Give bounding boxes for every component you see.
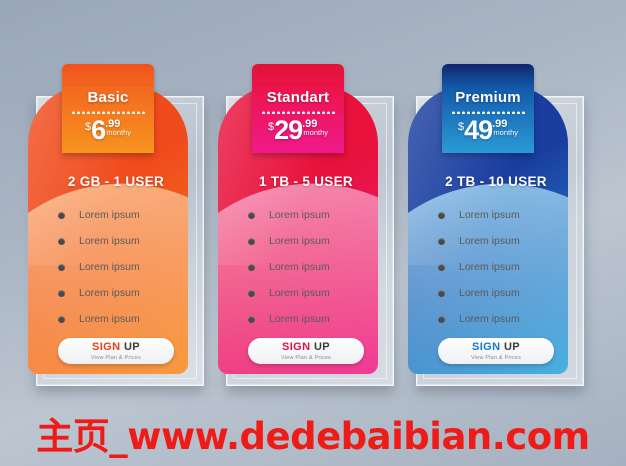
list-item: Lorem ipsum [438, 254, 558, 280]
bullet-icon [248, 290, 255, 297]
list-item: Lorem ipsum [248, 228, 368, 254]
bullet-icon [438, 264, 445, 271]
list-item: Lorem ipsum [438, 202, 558, 228]
sign-up-word-2: UP [124, 341, 140, 353]
ribbon-curl [252, 64, 344, 86]
feature-label: Lorem ipsum [79, 235, 140, 247]
list-item: Lorem ipsum [438, 306, 558, 332]
ribbon-body: Premium $49.99monthy [442, 86, 534, 153]
sign-up-word: SIGN [92, 341, 121, 353]
bullet-icon [248, 212, 255, 219]
feature-list: Lorem ipsum Lorem ipsum Lorem ipsum Lore… [438, 202, 558, 332]
list-item: Lorem ipsum [58, 254, 178, 280]
plan-name: Standart [252, 90, 344, 107]
bullet-icon [438, 290, 445, 297]
plan-ribbon: Standart $29.99monthy [252, 64, 344, 153]
feature-label: Lorem ipsum [269, 209, 330, 221]
bullet-icon [438, 316, 445, 323]
sign-up-button[interactable]: SIGN UP View Plan & Prices [438, 338, 554, 364]
feature-label: Lorem ipsum [459, 209, 520, 221]
plan-price: $29.99monthy [252, 117, 344, 144]
pricing-plan-basic: 2 GB - 1 USER Lorem ipsum Lorem ipsum Lo… [36, 96, 202, 384]
bullet-icon [248, 264, 255, 271]
list-item: Lorem ipsum [58, 228, 178, 254]
list-item: Lorem ipsum [248, 254, 368, 280]
feature-label: Lorem ipsum [459, 313, 520, 325]
feature-label: Lorem ipsum [269, 313, 330, 325]
sign-up-label: SIGN UP [282, 342, 330, 353]
pricing-table: 2 GB - 1 USER Lorem ipsum Lorem ipsum Lo… [0, 0, 626, 466]
bullet-icon [248, 238, 255, 245]
feature-list: Lorem ipsum Lorem ipsum Lorem ipsum Lore… [248, 202, 368, 332]
plan-price: $6.99monthy [62, 117, 154, 144]
sign-up-subtitle: View Plan & Prices [281, 355, 331, 361]
plan-quota: 2 TB - 10 USER [416, 174, 576, 189]
sign-up-button[interactable]: SIGN UP View Plan & Prices [58, 338, 174, 364]
plan-name: Basic [62, 90, 154, 107]
perforation-divider [261, 111, 335, 114]
ribbon-curl [62, 64, 154, 86]
sign-up-label: SIGN UP [92, 342, 140, 353]
feature-label: Lorem ipsum [79, 261, 140, 273]
sign-up-subtitle: View Plan & Prices [471, 355, 521, 361]
sign-up-label: SIGN UP [472, 342, 520, 353]
sign-up-subtitle: View Plan & Prices [91, 355, 141, 361]
feature-label: Lorem ipsum [269, 235, 330, 247]
feature-label: Lorem ipsum [269, 287, 330, 299]
list-item: Lorem ipsum [248, 202, 368, 228]
sign-up-word-2: UP [314, 341, 330, 353]
bullet-icon [58, 290, 65, 297]
bullet-icon [58, 212, 65, 219]
list-item: Lorem ipsum [438, 280, 558, 306]
price-amount: 49 [464, 117, 492, 144]
sign-up-word: SIGN [472, 341, 501, 353]
pricing-plan-premium: 2 TB - 10 USER Lorem ipsum Lorem ipsum L… [416, 96, 582, 384]
feature-label: Lorem ipsum [79, 313, 140, 325]
plan-name: Premium [442, 90, 534, 107]
feature-label: Lorem ipsum [79, 287, 140, 299]
price-period: monthy [106, 129, 131, 137]
list-item: Lorem ipsum [248, 280, 368, 306]
price-amount: 6 [91, 117, 105, 144]
list-item: Lorem ipsum [58, 202, 178, 228]
list-item: Lorem ipsum [58, 306, 178, 332]
feature-label: Lorem ipsum [459, 235, 520, 247]
perforation-divider [451, 111, 525, 114]
list-item: Lorem ipsum [438, 228, 558, 254]
bullet-icon [58, 316, 65, 323]
price-period: monthy [303, 129, 328, 137]
bullet-icon [438, 238, 445, 245]
watermark: 主页_www.dedebaibian.com [0, 406, 626, 460]
list-item: Lorem ipsum [248, 306, 368, 332]
bullet-icon [248, 316, 255, 323]
feature-label: Lorem ipsum [459, 287, 520, 299]
feature-label: Lorem ipsum [459, 261, 520, 273]
feature-label: Lorem ipsum [79, 209, 140, 221]
price-period: monthy [493, 129, 518, 137]
plan-quota: 1 TB - 5 USER [226, 174, 386, 189]
price-amount: 29 [274, 117, 302, 144]
plan-ribbon: Basic $6.99monthy [62, 64, 154, 153]
sign-up-word-2: UP [504, 341, 520, 353]
sign-up-word: SIGN [282, 341, 311, 353]
bullet-icon [58, 238, 65, 245]
ribbon-body: Standart $29.99monthy [252, 86, 344, 153]
sign-up-button[interactable]: SIGN UP View Plan & Prices [248, 338, 364, 364]
list-item: Lorem ipsum [58, 280, 178, 306]
ribbon-curl [442, 64, 534, 86]
bullet-icon [58, 264, 65, 271]
feature-label: Lorem ipsum [269, 261, 330, 273]
plan-price: $49.99monthy [442, 117, 534, 144]
plan-ribbon: Premium $49.99monthy [442, 64, 534, 153]
feature-list: Lorem ipsum Lorem ipsum Lorem ipsum Lore… [58, 202, 178, 332]
bullet-icon [438, 212, 445, 219]
pricing-plan-standart: 1 TB - 5 USER Lorem ipsum Lorem ipsum Lo… [226, 96, 392, 384]
perforation-divider [71, 111, 145, 114]
plan-quota: 2 GB - 1 USER [36, 174, 196, 189]
ribbon-body: Basic $6.99monthy [62, 86, 154, 153]
